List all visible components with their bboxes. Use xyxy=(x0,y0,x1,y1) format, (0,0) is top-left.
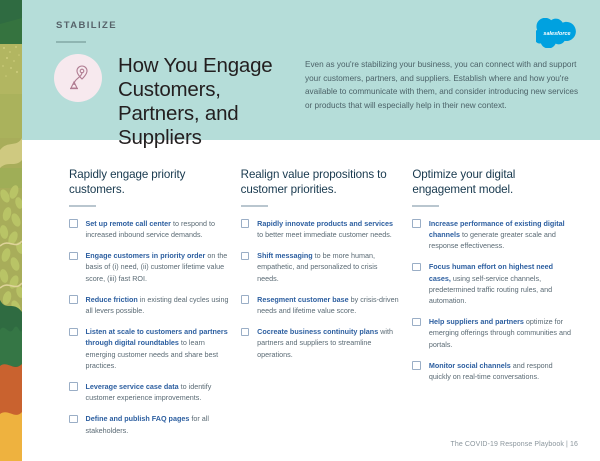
checklist-item-bold: Leverage service case data xyxy=(86,382,179,391)
salesforce-wordmark: salesforce xyxy=(543,31,570,37)
column-3: Optimize your digital engagement model. … xyxy=(412,168,584,440)
checkbox[interactable] xyxy=(412,318,421,327)
checklist-item-bold: Listen at scale to customers and partner… xyxy=(86,327,228,347)
checkbox[interactable] xyxy=(412,219,421,228)
checklist-item[interactable]: Define and publish FAQ pages for all sta… xyxy=(69,413,229,435)
checklist-item-text: Monitor social channels and respond quic… xyxy=(429,360,572,382)
checklist-item-text: Increase performance of existing digital… xyxy=(429,218,572,252)
checklist-item-text: Engage customers in priority order on th… xyxy=(86,250,229,284)
checklist-item-bold: Resegment customer base xyxy=(257,295,348,304)
checklist-item-bold: Reduce friction xyxy=(86,295,138,304)
checklist-item[interactable]: Focus human effort on highest need cases… xyxy=(412,261,572,306)
checklist-item[interactable]: Set up remote call center to respond to … xyxy=(69,218,229,240)
column-title: Optimize your digital engagement model. xyxy=(412,168,572,197)
checklist-item[interactable]: Increase performance of existing digital… xyxy=(412,218,572,252)
checklist-item-bold: Monitor social channels xyxy=(429,361,511,370)
checklist-item[interactable]: Monitor social channels and respond quic… xyxy=(412,360,572,382)
checklist-item-rest: to better meet immediate customer needs. xyxy=(257,230,392,239)
salesforce-logo-icon: salesforce xyxy=(536,18,578,48)
checkbox[interactable] xyxy=(69,219,78,228)
checklist-item-bold: Define and publish FAQ pages xyxy=(86,414,190,423)
checkbox[interactable] xyxy=(241,252,250,261)
page-footer: The COVID-19 Response Playbook | 16 xyxy=(451,441,579,448)
checklist-item-bold: Rapidly innovate products and services xyxy=(257,219,393,228)
checkbox[interactable] xyxy=(412,263,421,272)
column-title: Rapidly engage priority customers. xyxy=(69,168,229,197)
checkbox[interactable] xyxy=(241,295,250,304)
checklist-item-text: Resegment customer base by crisis-driven… xyxy=(257,294,400,316)
checklist-item[interactable]: Help suppliers and partners optimize for… xyxy=(412,316,572,350)
checkbox[interactable] xyxy=(69,328,78,337)
playbook-page: STABILIZE How You Engage Customers, Part… xyxy=(0,0,600,461)
checkbox[interactable] xyxy=(69,415,78,424)
checklist-item-text: Leverage service case data to identify c… xyxy=(86,381,229,403)
checklist-item[interactable]: Resegment customer base by crisis-driven… xyxy=(241,294,401,316)
page-title: How You Engage Customers, Partners, and … xyxy=(118,54,298,150)
checklist-item-text: Define and publish FAQ pages for all sta… xyxy=(86,413,229,435)
checklist-columns: Rapidly engage priority customers. Set u… xyxy=(22,140,600,440)
checkbox[interactable] xyxy=(69,382,78,391)
checklist-item-text: Set up remote call center to respond to … xyxy=(86,218,229,240)
checklist-item-bold: Engage customers in priority order xyxy=(86,251,206,260)
checklist-item[interactable]: Engage customers in priority order on th… xyxy=(69,250,229,284)
checklist-item[interactable]: Listen at scale to customers and partner… xyxy=(69,326,229,371)
checklist-item-text: Shift messaging to be more human, empath… xyxy=(257,250,400,284)
checkbox[interactable] xyxy=(241,219,250,228)
column-2: Realign value propositions to customer p… xyxy=(241,168,413,440)
checklist-item[interactable]: Leverage service case data to identify c… xyxy=(69,381,229,403)
checklist-item-bold: Set up remote call center xyxy=(86,219,171,228)
checklist-item[interactable]: Rapidly innovate products and services t… xyxy=(241,218,401,240)
column-divider xyxy=(412,205,439,207)
journey-pin-icon xyxy=(54,54,102,102)
checklist-item-text: Listen at scale to customers and partner… xyxy=(86,326,229,371)
checklist-item-text: Focus human effort on highest need cases… xyxy=(429,261,572,306)
checklist-item[interactable]: Shift messaging to be more human, empath… xyxy=(241,250,401,284)
kicker-divider xyxy=(56,41,86,43)
section-kicker: STABILIZE xyxy=(56,20,117,31)
column-title: Realign value propositions to customer p… xyxy=(241,168,401,197)
checklist-item[interactable]: Reduce friction in existing deal cycles … xyxy=(69,294,229,316)
checklist-item-bold: Shift messaging xyxy=(257,251,313,260)
checkbox[interactable] xyxy=(69,295,78,304)
checklist-item[interactable]: Cocreate business continuity plans with … xyxy=(241,326,401,360)
checklist-item-text: Cocreate business continuity plans with … xyxy=(257,326,400,360)
column-1: Rapidly engage priority customers. Set u… xyxy=(69,168,241,440)
column-divider xyxy=(241,205,268,207)
checkbox[interactable] xyxy=(241,328,250,337)
checkbox[interactable] xyxy=(69,252,78,261)
decorative-botanical-strip xyxy=(0,0,22,461)
checklist-item-text: Reduce friction in existing deal cycles … xyxy=(86,294,229,316)
checkbox[interactable] xyxy=(412,361,421,370)
column-divider xyxy=(69,205,96,207)
checklist-item-bold: Help suppliers and partners xyxy=(429,317,524,326)
page-header: STABILIZE How You Engage Customers, Part… xyxy=(22,0,600,140)
page-intro: Even as you're stabilizing your business… xyxy=(305,58,581,112)
checklist-item-text: Help suppliers and partners optimize for… xyxy=(429,316,572,350)
checklist-item-text: Rapidly innovate products and services t… xyxy=(257,218,400,240)
checklist-item-bold: Cocreate business continuity plans xyxy=(257,327,378,336)
